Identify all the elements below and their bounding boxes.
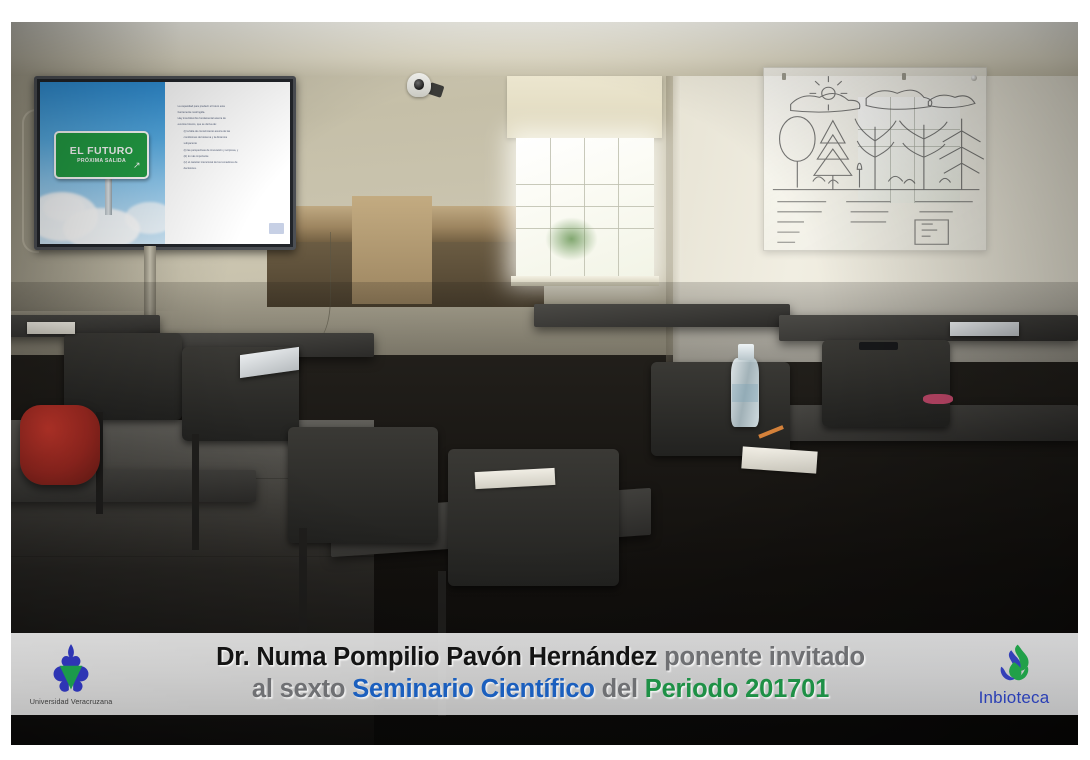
slide-line: (iii) lo más importante — [178, 155, 278, 159]
fleur-de-lis-v-icon — [43, 642, 99, 696]
logo-universidad-veracruzana: Universidad Veracruzana — [11, 633, 131, 715]
road-sign: EL FUTURO PRÓXIMA SALIDA ↗ — [54, 131, 149, 179]
logo-inbioteca: Inbioteca — [950, 633, 1078, 715]
chair — [651, 362, 790, 456]
event-name: Seminario Científico — [352, 675, 595, 703]
slide-line: subyacente — [178, 142, 278, 146]
whiteboard-forest-diagram — [764, 68, 986, 250]
logo-caption-universidad: Universidad Veracruzana — [30, 697, 113, 706]
notebook — [741, 446, 817, 473]
slide-photo: EL FUTURO PRÓXIMA SALIDA ↗ — [40, 82, 165, 244]
desk — [534, 304, 790, 327]
caption-line-2: al sexto Seminario Científico del Period… — [131, 675, 950, 704]
period-label: Periodo 201701 — [645, 675, 829, 703]
speaker-role: ponente invitado — [664, 643, 865, 671]
chair — [288, 427, 437, 543]
cloud-shape — [125, 202, 165, 234]
slide-logo — [269, 223, 284, 234]
window-blind — [507, 76, 662, 137]
window-plant — [545, 217, 598, 260]
pink-item — [923, 394, 953, 404]
flame-leaf-icon — [990, 641, 1038, 687]
slide-line: condiciones del sistema y la dinámica — [178, 136, 278, 140]
speaker-name: Dr. Numa Pompilio Pavón Hernández — [216, 643, 657, 671]
arrow-up-right-icon: ↗ — [133, 161, 141, 170]
road-sign-title: EL FUTURO — [70, 146, 134, 157]
caption-text: Dr. Numa Pompilio Pavón Hernández ponent… — [131, 643, 950, 705]
slide-line: (i) la falta de conocimiento acerca de l… — [178, 130, 278, 134]
slide-line: eventos futuros, que se deriva de: — [178, 123, 278, 127]
slide-line: Hay incertidumbre fundamental acerca de — [178, 117, 278, 121]
slide-line: decisiones. — [178, 167, 278, 171]
poster-canvas: EL FUTURO PRÓXIMA SALIDA ↗ La capacidad … — [0, 0, 1090, 760]
event-prefix: al sexto — [252, 675, 345, 703]
screen-display: EL FUTURO PRÓXIMA SALIDA ↗ La capacidad … — [40, 82, 289, 244]
backpack — [20, 405, 100, 485]
chair — [822, 340, 950, 427]
slide-line: (iv) el carácter intencional de los toma… — [178, 161, 278, 165]
logo-caption-inbioteca: Inbioteca — [979, 688, 1050, 708]
paper-sheet — [27, 322, 75, 334]
slide-line: fuertemente restringida. — [178, 111, 278, 115]
desk — [779, 315, 1078, 341]
road-sign-subtitle: PRÓXIMA SALIDA — [77, 159, 126, 164]
slide-line: (ii) las perspectivas de innovación y so… — [178, 149, 278, 153]
smartphone — [859, 342, 897, 350]
slide-text-block: La capacidad para predecir el futuro est… — [165, 82, 290, 244]
bottle-cap — [738, 344, 754, 359]
period-prefix: del — [602, 675, 638, 703]
laptop — [950, 322, 1019, 336]
chair-leg — [192, 434, 198, 550]
presentation-screen: EL FUTURO PRÓXIMA SALIDA ↗ La capacidad … — [34, 76, 295, 250]
caption-line-1: Dr. Numa Pompilio Pavón Hernández ponent… — [131, 643, 950, 672]
bottle-label — [732, 384, 758, 403]
whiteboard — [763, 67, 987, 251]
caption-banner: Universidad Veracruzana Dr. Numa Pompili… — [11, 633, 1078, 715]
slide-line: La capacidad para predecir el futuro est… — [178, 105, 278, 109]
